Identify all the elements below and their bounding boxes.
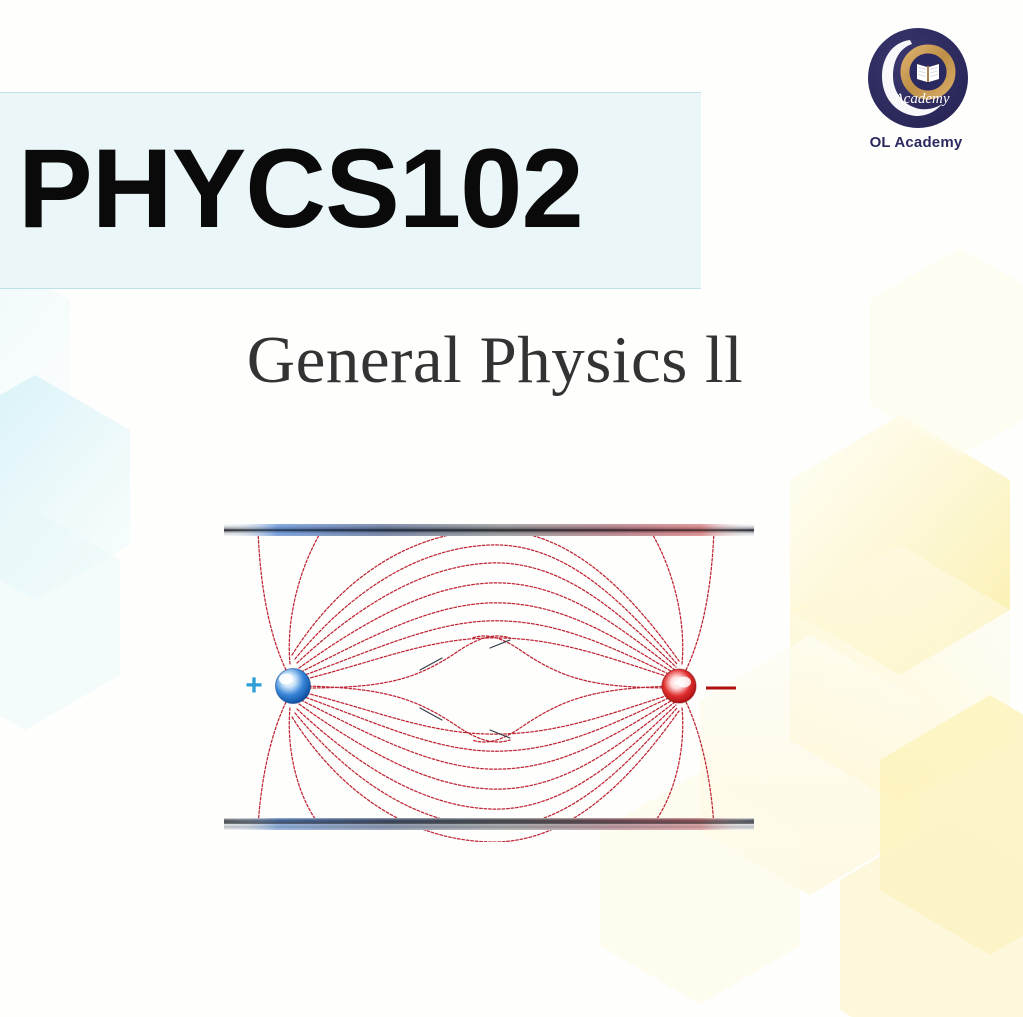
top-plate <box>224 524 754 536</box>
electric-dipole-diagram: + — <box>224 512 754 842</box>
ol-academy-logo: Academy OL Academy <box>846 26 986 166</box>
positive-charge: + <box>245 669 310 704</box>
course-code-heading: PHYCS102 <box>18 132 583 244</box>
hexagon-cyan-left <box>0 375 130 600</box>
open-book-icon <box>917 64 939 82</box>
dipole-field-svg: + — <box>224 512 754 842</box>
hexagon-yellow-corner <box>880 695 1023 955</box>
field-line-center <box>472 636 676 688</box>
field-line <box>292 530 679 661</box>
logo-caption: OL Academy <box>846 134 986 151</box>
presentation-slide: PHYCS102 General Physics ll <box>0 0 1023 1017</box>
field-direction-markers <box>420 640 510 738</box>
field-line-to-plate <box>289 708 322 828</box>
field-line-to-plate <box>650 530 683 664</box>
academy-badge-icon: Academy <box>866 26 970 130</box>
field-line-to-plate <box>258 702 286 828</box>
negative-sign-label: — <box>706 670 736 703</box>
positive-sign-label: + <box>245 669 263 702</box>
badge-script-text: Academy <box>894 91 950 107</box>
field-line-to-plate <box>686 530 714 670</box>
hexagon-cyan-lower-left <box>0 505 120 730</box>
field-line <box>299 583 675 670</box>
field-lines-group <box>258 530 714 842</box>
field-line-to-plate <box>650 708 683 828</box>
field-line-to-plate <box>258 530 286 670</box>
hexagon-yellow-right <box>790 415 1010 675</box>
hexagon-yellow-bottom-corner <box>840 815 1023 1017</box>
field-line-to-plate <box>686 702 714 828</box>
course-subtitle: General Physics ll <box>0 322 990 399</box>
negative-charge: — <box>662 669 736 703</box>
field-line <box>299 702 675 789</box>
bottom-plate <box>224 818 754 830</box>
title-band: PHYCS102 <box>0 92 701 289</box>
hexagon-yellow-right-lower <box>790 545 1010 805</box>
field-line-to-plate <box>289 530 322 664</box>
